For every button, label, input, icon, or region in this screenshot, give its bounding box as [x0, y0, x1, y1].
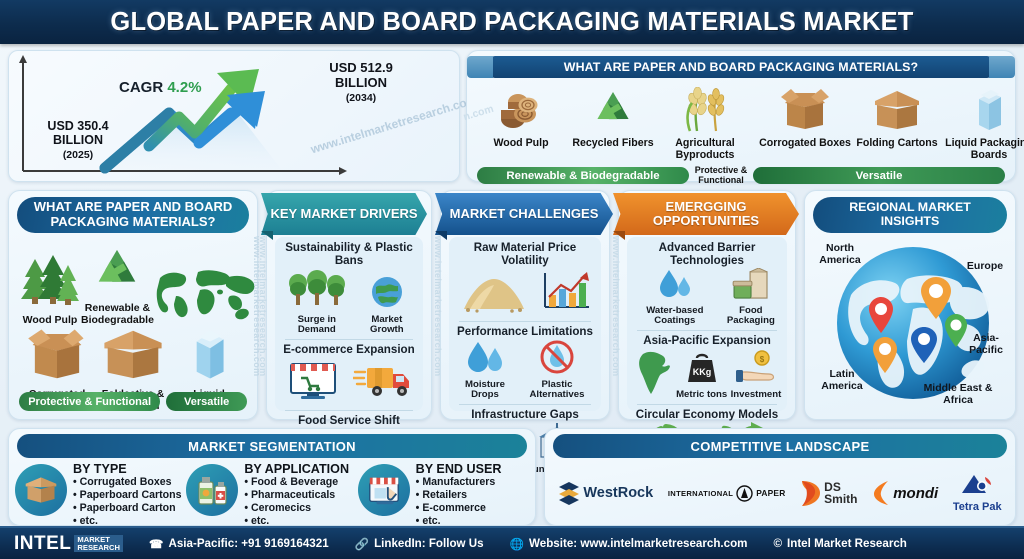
panel-materials-badges: Protective & Functional Versatile [19, 392, 247, 411]
folding-carton-icon [851, 83, 943, 137]
region-label-europe: Europe [957, 261, 1013, 273]
food-bag-icon [728, 268, 774, 300]
storefront-icon [358, 464, 410, 516]
list-item: Paperboard Carton [73, 502, 182, 515]
ip-label-1: INTERNATIONAL [668, 489, 733, 498]
svg-text:$: $ [760, 355, 765, 364]
panel-materials-grid: Wood Pulp Renewable & Biodegradable [19, 239, 247, 385]
panel-materials-title: WHAT ARE PAPER AND BOARD PACKAGING MATER… [17, 197, 249, 233]
weight-icon: KKg [685, 350, 719, 384]
segmentation-list: Manufacturers Retailers E-commerce etc. [416, 476, 502, 529]
mondi-mark-icon [872, 480, 891, 506]
divider [637, 404, 777, 405]
footer-copyright: © Intel Market Research [773, 537, 906, 550]
challenge-item [460, 271, 528, 318]
opportunity-icons: Water-based Coatings Food Packaging [631, 268, 783, 327]
badge-protective: Protective & Functional [19, 392, 160, 411]
divider [637, 330, 777, 331]
bottles-icon [186, 464, 238, 516]
panel-drivers-title: KEY MARKET DRIVERS [261, 193, 427, 235]
driver-icons [279, 358, 419, 407]
opportunity-label: Water-based Coatings [631, 306, 719, 327]
opportunity-item: $ Investment [731, 350, 782, 400]
opportunity-item [633, 348, 673, 401]
wood-logs-icon [475, 83, 567, 137]
hand-coin-icon: $ [735, 350, 777, 384]
material-label: Folding Cartons [851, 138, 943, 150]
footer-brand: INTEL MARKET RESEARCH [14, 533, 123, 555]
ds-smith-logo: DS Smith [800, 479, 857, 507]
list-item: Retailers [416, 489, 502, 502]
opportunity-heading: Advanced Barrier Technologies [631, 241, 783, 267]
tetra-pak-logo: Tetra Pak [953, 474, 1002, 513]
open-box-icon [15, 464, 67, 516]
materials-icon-row: Wood Pulp Recycled Fibers [475, 83, 1009, 162]
region-label-middle-east-africa: Middle East & Africa [915, 383, 1001, 407]
page-title: GLOBAL PAPER AND BOARD PACKAGING MATERIA… [110, 8, 913, 37]
segmentation-columns: BY TYPE Corrugated Boxes Paperboard Cart… [15, 462, 529, 521]
panel-opportunities-body: Advanced Barrier Technologies Water-base… [627, 237, 787, 411]
driver-icons: Surge in Demand Market Growth [279, 269, 419, 336]
region-label-latin-america: Latin America [811, 369, 873, 393]
footer-linkedin-label: LinkedIn: Follow Us [374, 537, 484, 550]
challenge-label: Moisture Drops [453, 380, 517, 401]
water-drops-icon [461, 340, 509, 374]
opportunity-label: Metric tons [676, 390, 727, 400]
list-item: Pharmaceuticals [244, 489, 349, 502]
segmentation-column-by-type: BY TYPE Corrugated Boxes Paperboard Cart… [15, 462, 186, 521]
open-box-icon [759, 83, 851, 137]
svg-text:KKg: KKg [692, 367, 711, 377]
recycle-icon [567, 83, 659, 137]
water-drop-icon [654, 268, 696, 300]
infographic-page: GLOBAL PAPER AND BOARD PACKAGING MATERIA… [0, 0, 1024, 559]
material-item: Renewable & Biodegradable [81, 245, 154, 327]
link-icon: 🔗 [355, 537, 369, 551]
panel-materials: WHAT ARE PAPER AND BOARD PACKAGING MATER… [8, 190, 258, 420]
driver-heading: E-commerce Expansion [279, 343, 419, 356]
badge-versatile: Versatile [753, 167, 1005, 184]
list-item: Corrugated Boxes [73, 476, 182, 489]
list-item: Paperboard Cartons [73, 489, 182, 502]
opportunity-label: Investment [731, 390, 782, 400]
driver-label: Surge in Demand [279, 315, 355, 336]
divider [285, 410, 413, 411]
cagr-label: CAGR 4.2% [119, 79, 202, 96]
panel-challenges-title: MARKET CHALLENGES [435, 193, 613, 235]
panel-market-segmentation: MARKET SEGMENTATION BY TYPE Corrugated B… [8, 428, 536, 526]
panel-drivers-body: Sustainability & Plastic Bans Surge in D… [275, 237, 423, 411]
driver-item [353, 360, 413, 407]
trees-icon [286, 269, 348, 309]
sand-pile-icon [460, 271, 528, 313]
challenge-item [541, 269, 591, 318]
region-label-asia-pacific: Asia-Pacific [959, 333, 1013, 357]
challenge-item: Moisture Drops [453, 340, 517, 401]
westrock-logo: WestRock [558, 480, 653, 506]
badge-protective: Protective & Functional [689, 166, 753, 185]
panel-regional-title: REGIONAL MARKET INSIGHTS [813, 197, 1007, 233]
opportunity-heading: Circular Economy Models [631, 408, 783, 421]
westrock-label: WestRock [583, 485, 653, 501]
mondi-logo: mondi [872, 480, 938, 506]
segmentation-title: MARKET SEGMENTATION [17, 434, 527, 458]
ip-label-2: PAPER [756, 488, 785, 498]
smith-label: Smith [824, 492, 857, 506]
open-box-icon [100, 327, 166, 383]
globe-icon: 🌐 [510, 537, 524, 551]
panel-key-market-drivers: KEY MARKET DRIVERS Sustainability & Plas… [266, 190, 432, 420]
footer-linkedin[interactable]: 🔗 LinkedIn: Follow Us [355, 537, 484, 551]
challenge-icons [453, 269, 597, 318]
driver-heading: Sustainability & Plastic Bans [279, 241, 419, 267]
material-label: Recycled Fibers [567, 138, 659, 150]
material-item: Liquid Packaging Boards [943, 83, 1024, 162]
opportunity-icons: KKg Metric tons $ Investment [631, 348, 783, 401]
material-item: Recycled Fibers [567, 83, 659, 162]
material-item: Wood Pulp [19, 251, 81, 327]
material-item: Wood Pulp [475, 83, 567, 162]
material-item: Corrogated Boxes [759, 83, 851, 162]
header-bar: GLOBAL PAPER AND BOARD PACKAGING MATERIA… [0, 0, 1024, 44]
opportunity-item: KKg Metric tons [676, 350, 727, 400]
tetra-pak-label: Tetra Pak [953, 501, 1002, 513]
material-label: Corrogated Boxes [759, 138, 851, 150]
carton-icon [943, 83, 1024, 137]
badge-versatile: Versatile [166, 392, 247, 411]
delivery-truck-icon [353, 360, 413, 402]
segmentation-heading: BY TYPE [73, 462, 182, 476]
brand-name: INTEL [14, 533, 71, 555]
segmentation-list: Food & Beverage Pharmaceuticals Ceromeci… [244, 476, 349, 529]
divider [459, 321, 591, 322]
india-map-icon [633, 348, 673, 396]
brand-subtitle: MARKET RESEARCH [74, 535, 123, 553]
opportunity-label: Food Packaging [719, 306, 783, 327]
ds-smith-mark-icon [800, 479, 822, 507]
closed-box-icon [26, 327, 88, 383]
panel-competitive-landscape: COMPETITIVE LANDSCAPE WestRock INTERNATI… [544, 428, 1016, 526]
materials-group-renewable: Wood Pulp Recycled Fibers [475, 83, 751, 162]
materials-overview-title: WHAT ARE PAPER AND BOARD PACKAGING MATER… [491, 56, 991, 78]
divider [285, 339, 413, 340]
copyright-icon: © [773, 537, 782, 550]
driver-item: Market Growth [355, 275, 419, 336]
divider [459, 404, 591, 405]
material-item: Agricultural Byproducts [659, 83, 751, 162]
world-map-icon [154, 264, 258, 327]
material-label: Renewable & Biodegradable [81, 303, 154, 327]
phone-icon: ☎ [149, 537, 163, 551]
footer-phone[interactable]: ☎ Asia-Pacific: +91 9169164321 [149, 537, 329, 551]
cagr-value: 4.2% [167, 79, 201, 96]
wheat-icon [659, 83, 751, 137]
materials-badges: Renewable & Biodegradable Protective & F… [477, 167, 1007, 184]
tetra-pak-mark-icon [961, 474, 993, 496]
challenge-heading: Infrastructure Gaps [453, 408, 597, 421]
material-item: Folding Cartons [851, 83, 943, 162]
footer-website-label: Website: www.intelmarketresearch.com [529, 537, 747, 550]
challenge-heading: Performance Limitations [453, 325, 597, 338]
opportunity-item: Food Packaging [719, 268, 783, 327]
materials-group-versatile: Corrogated Boxes Folding Cartons [759, 83, 1024, 162]
driver-item [285, 358, 341, 407]
competitive-title: COMPETITIVE LANDSCAPE [553, 434, 1007, 458]
competitor-logos: WestRock INTERNATIONAL PAPER DS Smith [551, 465, 1009, 521]
globe-icon [370, 275, 404, 309]
list-item: Food & Beverage [244, 476, 349, 489]
end-value-label: USD 512.9 BILLION (2034) [305, 61, 417, 105]
panel-emerging-opportunities: EMERGGING OPPORTUNITIES Advanced Barrier… [618, 190, 796, 420]
watermark: www.intelmarketresearch.com [433, 236, 443, 386]
pine-trees-icon [19, 251, 81, 309]
material-label: Liquid Packaging Boards [943, 138, 1024, 162]
region-label-north-america: North America [809, 243, 871, 267]
footer-website[interactable]: 🌐 Website: www.intelmarketresearch.com [510, 537, 748, 551]
challenge-heading: Raw Material Price Volatility [453, 241, 597, 267]
footer-copyright-label: Intel Market Research [787, 537, 907, 550]
badge-renewable: Renewable & Biodegradable [477, 167, 689, 184]
segmentation-list: Corrugated Boxes Paperboard Cartons Pape… [73, 476, 182, 529]
bar-chart-up-icon [541, 269, 591, 313]
driver-label: Market Growth [355, 315, 419, 336]
challenge-label: Plastic Alternatives [517, 380, 597, 401]
segmentation-heading: BY END USER [416, 462, 502, 476]
online-store-icon [285, 358, 341, 402]
material-label: Agricultural Byproducts [659, 138, 751, 162]
panel-regional-insights: REGIONAL MARKET INSIGHTS [804, 190, 1016, 420]
materials-overview-panel: WHAT ARE PAPER AND BOARD PACKAGING MATER… [466, 50, 1016, 182]
opportunity-item: Water-based Coatings [631, 268, 719, 327]
watermark: www.intelmarketresearch.com [258, 236, 268, 386]
market-growth-chart: USD 350.4 BILLION (2025) CAGR 4.2% USD 5… [8, 50, 460, 182]
list-item: Ceromecics [244, 502, 349, 515]
start-value-label: USD 350.4 BILLION (2025) [23, 119, 133, 162]
driver-item: Surge in Demand [279, 269, 355, 336]
list-item: Manufacturers [416, 476, 502, 489]
driver-heading: Food Service Shift [279, 414, 419, 427]
milk-carton-icon [186, 327, 232, 383]
international-paper-logo: INTERNATIONAL PAPER [668, 485, 786, 502]
westrock-mark-icon [558, 480, 580, 506]
segmentation-heading: BY APPLICATION [244, 462, 349, 476]
challenge-item: Plastic Alternatives [517, 340, 597, 401]
material-label: Wood Pulp [19, 315, 81, 327]
footer-phone-label: Asia-Pacific: +91 9169164321 [168, 537, 328, 550]
list-item: E-commerce [416, 502, 502, 515]
panel-opportunities-title: EMERGGING OPPORTUNITIES [613, 193, 799, 235]
materials-row-top: Wood Pulp Renewable & Biodegradable [19, 239, 247, 327]
no-plastic-icon [538, 340, 576, 374]
challenge-icons: Moisture Drops Plastic Alternatives [453, 340, 597, 401]
opportunity-heading: Asia-Pacific Expansion [631, 334, 783, 347]
panel-challenges-body: Raw Material Price Volatility [449, 237, 601, 411]
footer-bar: INTEL MARKET RESEARCH ☎ Asia-Pacific: +9… [0, 526, 1024, 559]
ip-tree-mark-icon [736, 485, 753, 502]
panel-market-challenges: MARKET CHALLENGES Raw Material Price Vol… [440, 190, 610, 420]
segmentation-column-by-application: BY APPLICATION Food & Beverage Pharmaceu… [186, 462, 357, 521]
material-label: Wood Pulp [475, 138, 567, 150]
mondi-label: mondi [893, 485, 938, 502]
segmentation-column-by-end-user: BY END USER Manufacturers Retailers E-co… [358, 462, 529, 521]
recycle-icon [90, 245, 144, 297]
watermark: www.intelmarketresearch.com [611, 236, 621, 386]
